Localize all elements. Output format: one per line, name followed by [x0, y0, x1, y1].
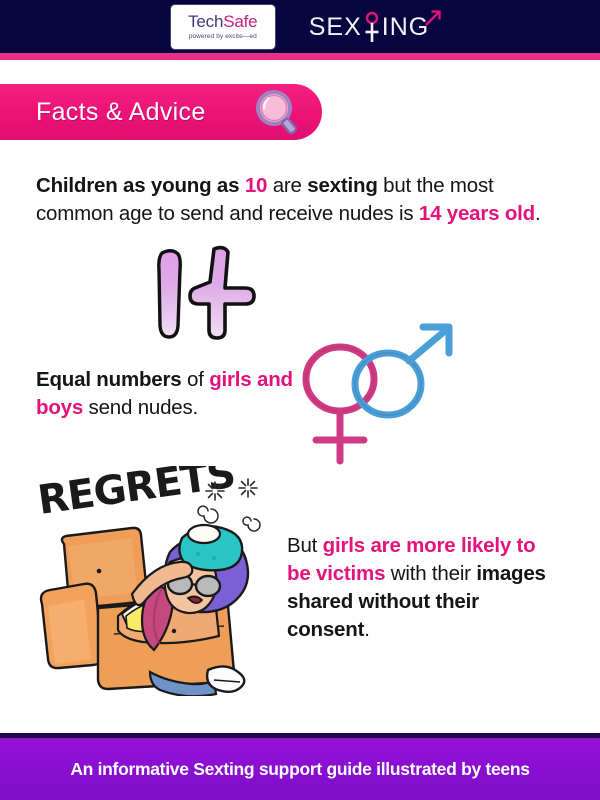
- paragraph-equal-numbers: Equal numbers of girls and boys send nud…: [36, 366, 296, 422]
- text-segment: Children as young as: [36, 174, 245, 197]
- magnifying-glass-icon: [244, 88, 300, 145]
- footer-text: An informative Sexting support guide ill…: [70, 759, 529, 780]
- text-segment: But: [287, 534, 323, 557]
- facts-and-advice-banner: Facts & Advice: [0, 84, 322, 140]
- text-segment: send nudes.: [83, 396, 198, 419]
- techsafe-tagline: powered by excite—ed: [189, 33, 257, 40]
- techsafe-logo: TechSafe powered by excite—ed: [171, 5, 275, 49]
- text-segment: 10: [245, 174, 267, 197]
- text-segment: Equal numbers: [36, 368, 182, 391]
- banner-title: Facts & Advice: [36, 98, 206, 127]
- sexting-suffix: ING: [382, 7, 429, 47]
- sexting-prefix: SEX: [309, 7, 362, 47]
- text-segment: with their: [385, 562, 476, 585]
- paragraph-age-fact: Children as young as 10 are sexting but …: [36, 172, 556, 228]
- techsafe-wordmark: TechSafe: [188, 13, 257, 30]
- gender-symbols-illustration: [296, 322, 461, 472]
- regrets-illustration: REGRETS: [22, 466, 277, 701]
- male-symbol-icon: [355, 327, 449, 415]
- regrets-word: REGRETS: [35, 466, 238, 524]
- text-segment: sexting: [307, 174, 377, 197]
- page-footer: An informative Sexting support guide ill…: [0, 738, 600, 800]
- sexting-logo: SEX ING: [309, 7, 429, 47]
- page-header: TechSafe powered by excite—ed SEX ING: [0, 0, 600, 53]
- gender-symbol-icon: [362, 7, 382, 47]
- paragraph-girls-victims: But girls are more likely to be victims …: [287, 532, 562, 644]
- text-segment: are: [267, 174, 307, 197]
- techsafe-name-part1: Tech: [188, 12, 223, 31]
- text-segment: .: [364, 618, 370, 641]
- handdrawn-14-illustration: [148, 243, 276, 345]
- text-segment: .: [535, 202, 541, 225]
- male-arrow-icon: [424, 9, 442, 32]
- text-segment: of: [182, 368, 210, 391]
- header-accent-stripe: [0, 53, 600, 60]
- text-segment: 14 years old: [419, 202, 535, 225]
- techsafe-name-part2: Safe: [223, 12, 257, 31]
- svg-text:REGRETS: REGRETS: [35, 466, 238, 524]
